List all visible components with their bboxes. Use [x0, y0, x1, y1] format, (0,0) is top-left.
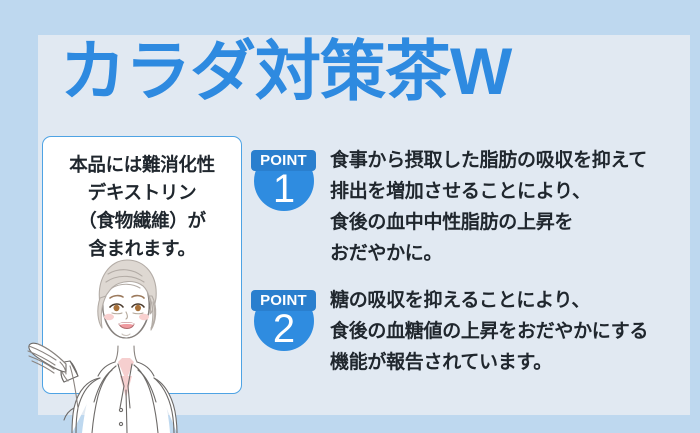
point-1-line-3: 食後の血中中性脂肪の上昇を — [330, 207, 680, 238]
fiber-card-line-2: デキストリン — [43, 179, 241, 207]
point-2-line-1: 糖の吸収を抑えることにより、 — [330, 285, 680, 316]
fiber-card-line-3: （食物繊維）が — [43, 207, 241, 235]
fiber-info-card: 本品には難消化性 デキストリン （食物繊維）が 含まれます。 — [42, 136, 242, 394]
point-number-2: 2 — [254, 307, 314, 351]
point-badge-1: POINT 1 — [252, 143, 314, 213]
fiber-card-line-1: 本品には難消化性 — [43, 151, 241, 179]
fiber-info-card-text: 本品には難消化性 デキストリン （食物繊維）が 含まれます。 — [43, 151, 241, 263]
point-2-line-3: 機能が報告されています。 — [330, 347, 680, 378]
page-title: カラダ対策茶W — [60, 32, 660, 110]
point-text-2: 糖の吸収を抑えることにより、 食後の血糖値の上昇をおだやかにする 機能が報告され… — [330, 285, 680, 378]
point-number-1: 1 — [254, 167, 314, 211]
point-1-line-1: 食事から摂取した脂肪の吸収を抑えて — [330, 145, 680, 176]
point-badge-2: POINT 2 — [252, 283, 314, 353]
point-1-line-4: おだやかに。 — [330, 238, 680, 269]
point-text-1: 食事から摂取した脂肪の吸収を抑えて 排出を増加させることにより、 食後の血中中性… — [330, 145, 680, 269]
product-infographic-poster: カラダ対策茶W 本品には難消化性 デキストリン （食物繊維）が 含まれます。 — [0, 0, 700, 433]
point-1-line-2: 排出を増加させることにより、 — [330, 176, 680, 207]
fiber-card-line-4: 含まれます。 — [43, 235, 241, 263]
point-2-line-2: 食後の血糖値の上昇をおだやかにする — [330, 316, 680, 347]
